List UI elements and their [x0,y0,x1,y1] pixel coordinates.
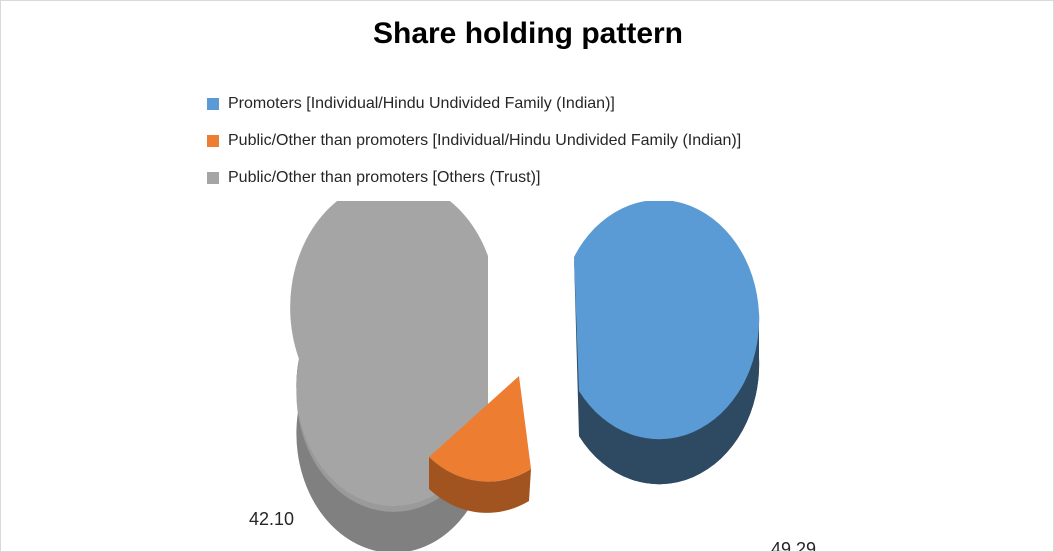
legend-swatch-icon [207,172,219,184]
pie-slice-promoters[interactable] [574,201,759,484]
pie-plot-area: 49.29 42.10 8.61 [1,201,1054,552]
legend-item-public-trust[interactable]: Public/Other than promoters [Others (Tru… [207,159,947,196]
legend-item-label: Promoters [Individual/Hindu Undivided Fa… [228,96,615,112]
data-label-public-trust: 42.10 [249,509,294,530]
legend-item-promoters[interactable]: Promoters [Individual/Hindu Undivided Fa… [207,85,947,122]
legend-item-label: Public/Other than promoters [Others (Tru… [228,170,540,186]
legend-swatch-icon [207,98,219,110]
chart-legend: Promoters [Individual/Hindu Undivided Fa… [207,85,947,196]
chart-title: Share holding pattern [1,17,1054,51]
legend-item-public-individual[interactable]: Public/Other than promoters [Individual/… [207,122,947,159]
data-label-promoters: 49.29 [771,539,816,552]
legend-item-label: Public/Other than promoters [Individual/… [228,133,741,149]
chart-container: Share holding pattern Promoters [Individ… [0,0,1054,552]
legend-swatch-icon [207,135,219,147]
pie-chart-svg [1,201,1054,552]
